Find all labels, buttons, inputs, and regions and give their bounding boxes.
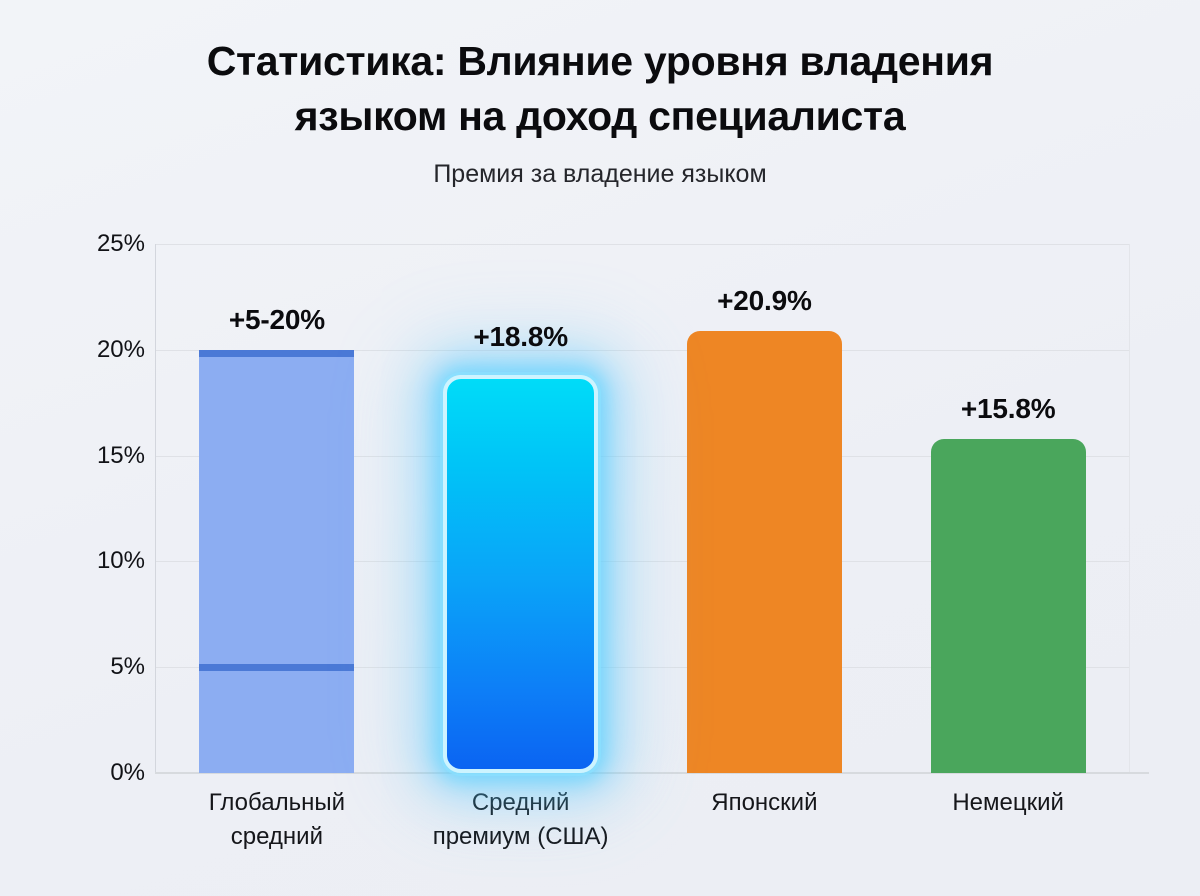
y-axis-tick-label: 10% [55,547,145,575]
page-title: Статистика: Влияние уровня владения язык… [0,34,1200,143]
y-axis-tick-label: 20% [55,336,145,364]
category-label-1: Глобальный средний [155,786,399,854]
x-axis-category-labels: Глобальный среднийСредний премиум (США)Я… [155,786,1130,886]
bar-3[interactable]: +20.9% [687,331,842,773]
y-axis-tick-label: 0% [55,759,145,787]
bar-value-label: +5-20% [159,304,394,336]
bar-fill [199,350,354,773]
range-upper-marker [199,350,354,357]
category-label-4: Немецкий [886,786,1130,820]
bar-2[interactable]: +18.8% [443,375,598,773]
bar-value-label: +15.8% [891,393,1126,425]
bar-fill [687,331,842,773]
bar-4[interactable]: +15.8% [931,439,1086,773]
bar-value-label: +20.9% [647,285,882,317]
bar-series: +5-20%+18.8%+20.9%+15.8% [155,244,1130,773]
y-axis-tick-label: 5% [55,653,145,681]
page-subtitle: Премия за владение языком [0,160,1200,189]
bar-fill [443,375,598,773]
category-label-3: Японский [643,786,887,820]
y-axis-tick-label: 25% [55,230,145,258]
y-axis-tick-labels: 0%5%10%15%20%25% [40,244,145,773]
y-axis-tick-label: 15% [55,442,145,470]
bar-fill [931,439,1086,773]
bar-1[interactable]: +5-20% [199,350,354,773]
bar-value-label: +18.8% [403,321,638,353]
chart-page: Статистика: Влияние уровня владения язык… [0,0,1200,896]
range-lower-marker [199,664,354,671]
category-label-2: Средний премиум (США) [399,786,643,854]
